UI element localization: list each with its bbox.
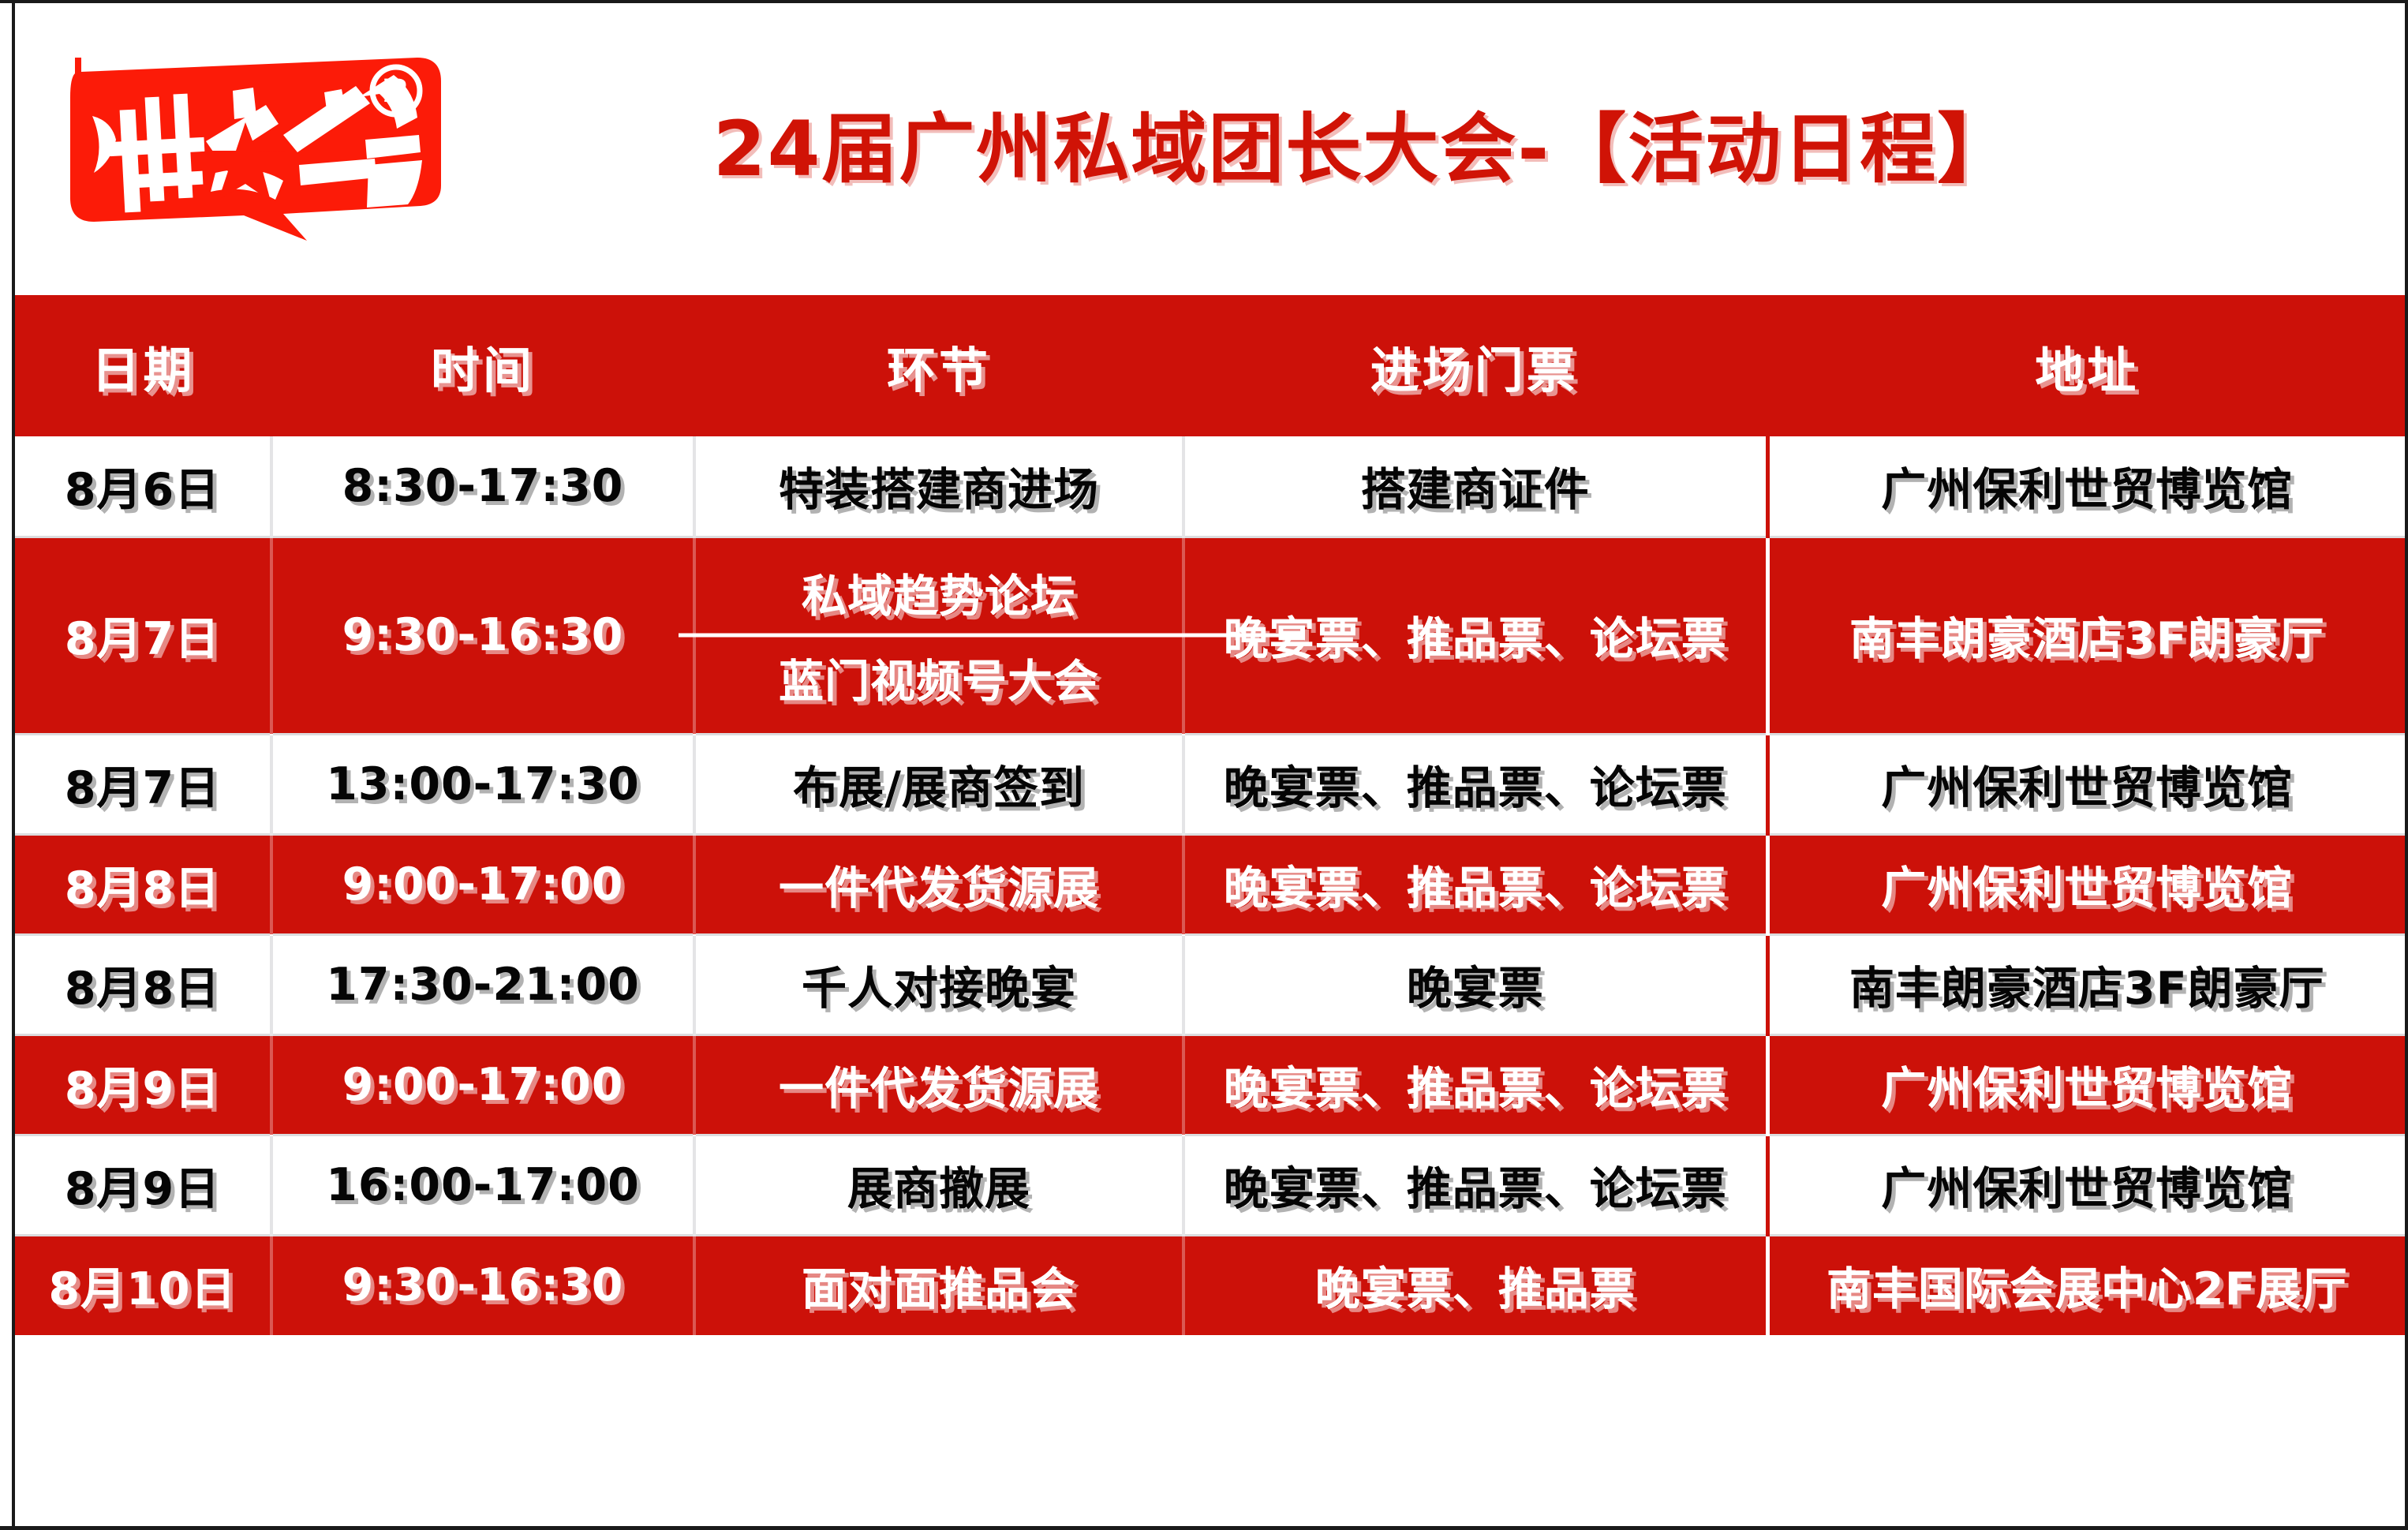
cell-address: 广州保利世贸博览馆 [1767,834,2405,934]
cell-ticket: 晚宴票、推品票 [1183,1235,1767,1335]
cell-date: 8月6日 [15,436,271,537]
feidianhui-logo: R [47,47,473,252]
column-header-ticket: 进场门票 [1183,295,1767,436]
cell-segment: 特装搭建商进场 [694,436,1183,537]
cell-address: 南丰朗豪酒店3F朗豪厅 [1767,537,2405,734]
cell-ticket: 搭建商证件 [1183,436,1767,537]
segment-line: 蓝门视频号大会 [779,645,1099,710]
table-row: 8月8日17:30-21:00千人对接晚宴晚宴票南丰朗豪酒店3F朗豪厅 [15,934,2405,1034]
cell-date: 8月9日 [15,1034,271,1135]
cell-time: 17:30-21:00 [271,934,694,1034]
cell-date: 8月8日 [15,934,271,1034]
cell-date: 8月7日 [15,734,271,834]
cell-segment: 展商撤展 [694,1135,1183,1235]
cell-time: 9:30-16:30 [271,1235,694,1335]
column-header-segment: 环节 [694,295,1183,436]
cell-address: 广州保利世贸博览馆 [1767,1034,2405,1135]
table-row: 8月10日9:30-16:30面对面推品会晚宴票、推品票南丰国际会展中心2F展厅 [15,1235,2405,1335]
cell-address: 南丰国际会展中心2F展厅 [1767,1235,2405,1335]
cell-ticket: 晚宴票、推品票、论坛票 [1183,1135,1767,1235]
cell-date: 8月7日 [15,537,271,734]
table-row: 8月7日9:30-16:30私域趋势论坛蓝门视频号大会晚宴票、推品票、论坛票南丰… [15,537,2405,734]
svg-text:R: R [383,73,409,110]
segment-line: 私域趋势论坛 [802,560,1076,625]
schedule-poster: R 24届广州私域团长大会-【活动日程】 日期 时间 环节 进场门票 地址 8月… [0,0,2408,1530]
cell-date: 8月9日 [15,1135,271,1235]
cell-time: 9:00-17:00 [271,1034,694,1135]
cell-address: 广州保利世贸博览馆 [1767,436,2405,537]
table-body: 8月6日8:30-17:30特装搭建商进场搭建商证件广州保利世贸博览馆8月7日9… [15,436,2405,1335]
table-row: 8月9日16:00-17:00展商撤展晚宴票、推品票、论坛票广州保利世贸博览馆 [15,1135,2405,1235]
page-title: 24届广州私域团长大会-【活动日程】 [473,111,2405,187]
cell-segment: 一件代发货源展 [694,1034,1183,1135]
poster-header: R 24届广州私域团长大会-【活动日程】 [15,3,2405,295]
cell-segment: 千人对接晚宴 [694,934,1183,1034]
cell-segment: 私域趋势论坛蓝门视频号大会 [694,537,1183,734]
cell-ticket: 晚宴票 [1183,934,1767,1034]
cell-segment: 布展/展商签到 [694,734,1183,834]
page-border-right [2405,0,2408,1530]
cell-time: 9:30-16:30 [271,537,694,734]
segment-divider-rule [679,634,1300,638]
table-header-row: 日期 时间 环节 进场门票 地址 [15,295,2405,436]
segment-stack: 私域趋势论坛蓝门视频号大会 [696,560,1182,710]
cell-ticket: 晚宴票、推品票、论坛票 [1183,834,1767,934]
column-header-date: 日期 [15,295,271,436]
cell-segment: 一件代发货源展 [694,834,1183,934]
cell-address: 广州保利世贸博览馆 [1767,1135,2405,1235]
cell-segment: 面对面推品会 [694,1235,1183,1335]
cell-date: 8月8日 [15,834,271,934]
cell-ticket: 晚宴票、推品票、论坛票 [1183,1034,1767,1135]
table-row: 8月6日8:30-17:30特装搭建商进场搭建商证件广州保利世贸博览馆 [15,436,2405,537]
column-header-time: 时间 [271,295,694,436]
schedule-table: 日期 时间 环节 进场门票 地址 8月6日8:30-17:30特装搭建商进场搭建… [15,295,2405,1335]
table-header: 日期 时间 环节 进场门票 地址 [15,295,2405,436]
table-row: 8月7日13:00-17:30布展/展商签到晚宴票、推品票、论坛票广州保利世贸博… [15,734,2405,834]
cell-time: 8:30-17:30 [271,436,694,537]
cell-time: 16:00-17:00 [271,1135,694,1235]
table-row: 8月8日9:00-17:00一件代发货源展晚宴票、推品票、论坛票广州保利世贸博览… [15,834,2405,934]
page-border-bottom [0,1526,2408,1530]
cell-time: 13:00-17:30 [271,734,694,834]
cell-address: 南丰朗豪酒店3F朗豪厅 [1767,934,2405,1034]
column-header-address: 地址 [1767,295,2405,436]
cell-time: 9:00-17:00 [271,834,694,934]
cell-address: 广州保利世贸博览馆 [1767,734,2405,834]
cell-ticket: 晚宴票、推品票、论坛票 [1183,734,1767,834]
cell-date: 8月10日 [15,1235,271,1335]
table-row: 8月9日9:00-17:00一件代发货源展晚宴票、推品票、论坛票广州保利世贸博览… [15,1034,2405,1135]
